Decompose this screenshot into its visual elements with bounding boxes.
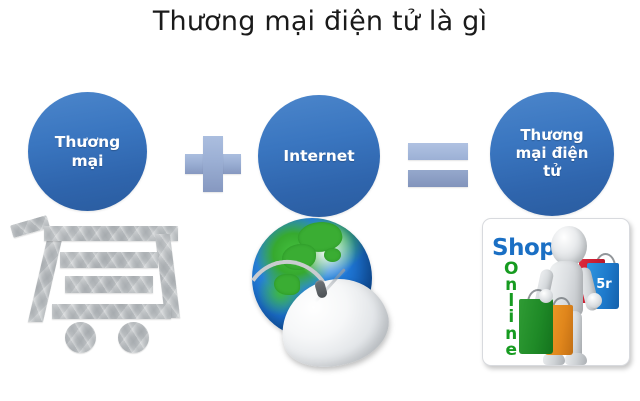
term-label-line: tử bbox=[516, 163, 589, 181]
cart-wheel-right bbox=[118, 322, 149, 353]
shopping-bag-green bbox=[519, 299, 553, 354]
term-label-ecommerce: Thương mại điện tử bbox=[510, 127, 595, 180]
term-label-line: Thương bbox=[516, 127, 589, 145]
shopping-bag-blue-label: 5r bbox=[593, 277, 615, 292]
term-label-line: mại bbox=[55, 152, 120, 170]
term-label-line: mại điện bbox=[516, 145, 589, 163]
term-label-internet: Internet bbox=[277, 147, 360, 165]
equals-bottom-bar bbox=[408, 170, 468, 187]
term-circle-internet: Internet bbox=[258, 95, 380, 217]
plus-operator-icon bbox=[185, 136, 241, 192]
term-circle-ecommerce: Thương mại điện tử bbox=[490, 92, 614, 216]
cart-wheel-left bbox=[65, 322, 96, 353]
online-text-vertical: O n l i n e bbox=[504, 261, 518, 358]
term-label-line: Thương bbox=[55, 133, 120, 151]
shop-text: Shop bbox=[492, 235, 555, 261]
shopping-cart-icon bbox=[8, 212, 190, 357]
plus-vertical-bar bbox=[203, 136, 223, 192]
term-label-line: Internet bbox=[283, 147, 354, 165]
term-circle-commerce: Thương mại bbox=[28, 92, 147, 211]
cart-slat-part bbox=[65, 276, 153, 293]
slide-canvas: Thương mại điện tử là gì Thương mại Inte… bbox=[0, 0, 640, 401]
globe-landmass bbox=[324, 248, 341, 262]
cart-bottom-rail-part bbox=[52, 304, 171, 319]
page-title: Thương mại điện tử là gì bbox=[0, 6, 640, 37]
shop-online-panel: Shop O n l i n e 5r bbox=[482, 218, 630, 366]
globe-with-mouse-icon bbox=[238, 218, 400, 373]
figure-hand-right bbox=[587, 293, 602, 308]
figure-hand-left bbox=[539, 289, 553, 303]
equals-operator-icon bbox=[408, 143, 468, 187]
figure-head bbox=[551, 226, 587, 266]
cart-slat-part bbox=[60, 252, 158, 268]
online-letter: e bbox=[505, 342, 517, 358]
term-label-commerce: Thương mại bbox=[49, 133, 126, 170]
equals-top-bar bbox=[408, 143, 468, 160]
